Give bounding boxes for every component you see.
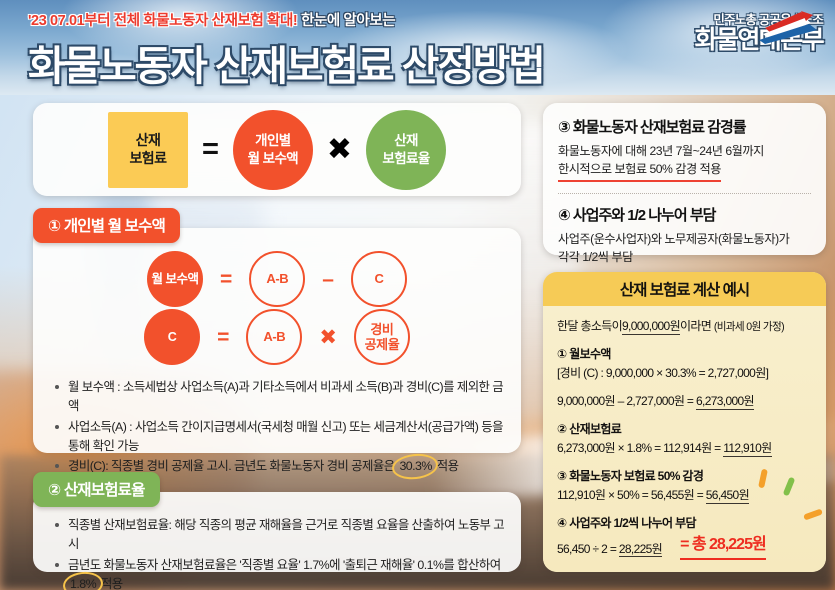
eq1-minus-sign: – (322, 269, 334, 290)
page-header: '23 07.01부터 전체 화물노동자 산재보험 확대! 한눈에 알아보는 화… (0, 0, 835, 95)
list-item: 직종별 산재보험료율: 해당 직종의 평균 재해율을 근거로 직종별 요율을 산… (55, 516, 505, 554)
expense-deduction-rate-highlight: 30.3% (397, 457, 433, 476)
equation-row-2: C = A-B ✖ 경비 공제율 (33, 308, 521, 366)
example-step-3-calc-pre: 112,910원 × 50% = 56,455원 = (557, 488, 703, 502)
example-step-1-result-pre: 9,000,000원 – 2,727,000원 = (557, 394, 693, 408)
poster-root: '23 07.01부터 전체 화물노동자 산재보험 확대! 한눈에 알아보는 화… (0, 0, 835, 590)
section-3-line-1: 화물노동자에 대해 23년 7월~24년 6월까지 (558, 142, 811, 160)
bullet3-post-text: 적용 (437, 459, 459, 473)
example-premium-result: 112,910원 (723, 441, 771, 457)
example-total-income: 9,000,000원 (622, 319, 680, 335)
formula-factor1: 개인별 월 보수액 (233, 110, 313, 190)
example-step-4-calc-line: 56,450 ÷ 2 = 28,225원 (557, 541, 662, 558)
union-swoosh-logo-icon (757, 8, 819, 44)
example-intro-pre: 한달 총소득이 (557, 319, 622, 333)
example-panel-body: 한달 총소득이9,000,000원이라면 (비과세 0원 가정) ① 월보수액 … (543, 306, 826, 572)
eq1-equals-sign: = (220, 269, 232, 290)
example-step-1-title: ① 월보수액 (557, 346, 812, 363)
bullet2-pre-text: 금년도 화물노동자 산재보험료율은 '직종별 요율' 1.7%에 '출퇴근 재해… (68, 558, 501, 572)
eq2-equals-sign: = (217, 327, 229, 348)
tagline-white-text: 한눈에 알아보는 (301, 13, 395, 29)
example-intro-mid: 이라면 (680, 319, 711, 333)
eq1-term-b: C (351, 251, 407, 307)
example-step-1-calc: [경비 (C) : 9,000,000 × 30.3% = 2,727,000원… (557, 365, 812, 382)
eq2-term-b-label: 경비 공제율 (365, 322, 400, 353)
example-panel-title: 산재 보험료 계산 예시 (543, 272, 826, 306)
section-1-bullets: 월 보수액 : 소득세법상 사업소득(A)과 기타소득에서 비과세 소득(B)과… (33, 372, 521, 476)
example-step-4-row: 56,450 ÷ 2 = 28,225원 = 총 28,225원 (557, 534, 812, 560)
section-1-card: 월 보수액 = A-B – C C = A-B ✖ 경비 공제율 월 보수액 :… (33, 228, 521, 453)
example-step-2-calc-pre: 6,273,000원 × 1.8% = 112,914원 = (557, 441, 721, 455)
section-2-badge: ② 산재보험료율 (33, 472, 160, 507)
example-step-3-calc-line: 112,910원 × 50% = 56,455원 = 56,450원 (557, 487, 812, 504)
eq2-multiply-sign: ✖ (319, 327, 337, 348)
section-3-body: 화물노동자에 대해 23년 7월~24년 6월까지 한시적으로 보험료 50% … (558, 142, 811, 182)
eq1-term-a: A-B (249, 251, 305, 307)
section-4-line-2: 각각 1/2씩 부담 (558, 248, 811, 266)
example-grand-total: = 총 28,225원 (680, 534, 766, 560)
formula-factor1-label: 개인별 월 보수액 (248, 132, 298, 167)
formula-factor2: 산재 보험료율 (366, 110, 446, 190)
calculation-example-panel: 산재 보험료 계산 예시 한달 총소득이9,000,000원이라면 (비과세 0… (543, 272, 826, 572)
example-step-2-title: ② 산재보험료 (557, 421, 812, 438)
section-4-title: ④ 사업주와 1/2 나누어 부담 (558, 204, 811, 225)
organization-brand: 민주노총 공공운수노조 화물연대본부 (695, 14, 823, 53)
eq1-left-term: 월 보수액 (147, 251, 203, 307)
insurance-rate-highlight: 1.8% (68, 575, 98, 590)
list-item: 월 보수액 : 소득세법상 사업소득(A)과 기타소득에서 비과세 소득(B)과… (55, 378, 505, 416)
list-item: 금년도 화물노동자 산재보험료율은 '직종별 요율' 1.7%에 '출퇴근 재해… (55, 556, 505, 590)
section-3-title: ③ 화물노동자 산재보험료 감경률 (558, 116, 811, 137)
example-reduced-premium-result: 56,450원 (706, 488, 749, 504)
section-divider (558, 193, 811, 194)
example-step-4-title: ④ 사업주와 1/2씩 나누어 부담 (557, 515, 812, 532)
main-formula-card: 산재 보험료 = 개인별 월 보수액 ✖ 산재 보험료율 (33, 103, 521, 196)
formula-equals-sign: = (202, 135, 219, 164)
list-item: 사업소득(A) : 사업소득 간이지급명세서(국세청 매월 신고) 또는 세금계… (55, 418, 505, 456)
formula-result-label: 산재 보험료 (130, 132, 167, 167)
example-intro-note: (비과세 0원 가정) (714, 321, 784, 333)
example-monthly-wage-result: 6,273,000원 (696, 394, 754, 410)
bullet2-post-text: 적용 (101, 577, 123, 590)
eq2-term-a: A-B (246, 309, 302, 365)
formula-multiply-sign: ✖ (327, 135, 352, 165)
right-info-card: ③ 화물노동자 산재보험료 감경률 화물노동자에 대해 23년 7월~24년 6… (543, 103, 826, 255)
section-4-body: 사업주(운수사업자)와 노무제공자(화물노동자)가 각각 1/2씩 부담 (558, 230, 811, 267)
tagline-red-text: '23 07.01부터 전체 화물노동자 산재보험 확대! (28, 13, 297, 29)
section-1-equations: 월 보수액 = A-B – C C = A-B ✖ 경비 공제율 (33, 228, 521, 372)
eq2-left-term: C (144, 309, 200, 365)
example-step-1-result-line: 9,000,000원 – 2,727,000원 = 6,273,000원 (557, 393, 812, 410)
section-4-line-1: 사업주(운수사업자)와 노무제공자(화물노동자)가 (558, 230, 811, 248)
section-1-badge: ① 개인별 월 보수액 (33, 208, 180, 243)
example-step-4-calc-pre: 56,450 ÷ 2 = (557, 542, 616, 556)
example-intro-line: 한달 총소득이9,000,000원이라면 (비과세 0원 가정) (557, 318, 812, 335)
formula-factor2-label: 산재 보험료율 (382, 132, 429, 167)
formula-result-box: 산재 보험료 (108, 112, 188, 188)
example-step-2-calc-line: 6,273,000원 × 1.8% = 112,914원 = 112,910원 (557, 440, 812, 457)
section-3-line-2-underlined: 한시적으로 보험료 50% 감경 적용 (558, 160, 721, 181)
example-final-share-result: 28,225원 (619, 542, 662, 558)
example-step-3-title: ③ 화물노동자 보험료 50% 감경 (557, 468, 812, 485)
equation-row-1: 월 보수액 = A-B – C (33, 250, 521, 308)
eq2-term-b: 경비 공제율 (354, 309, 410, 365)
